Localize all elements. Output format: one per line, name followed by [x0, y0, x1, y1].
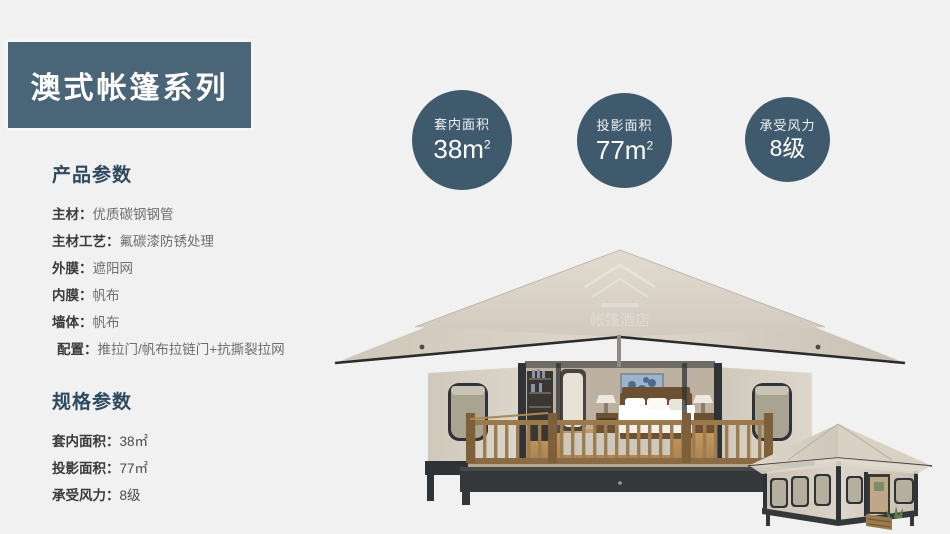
spec-value: 帆布	[93, 288, 120, 303]
spec-label: 配置：	[57, 342, 98, 357]
spec-value: 帆布	[93, 315, 120, 330]
spec-label: 外膜：	[52, 261, 93, 276]
spec-params-heading: 规格参数	[52, 387, 352, 414]
stat-badge-wind-resistance: 承受风力 8级	[745, 97, 830, 182]
product-params-heading: 产品参数	[52, 160, 352, 187]
spec-label: 投影面积：	[52, 461, 120, 476]
spec-row: 墙体：帆布	[52, 309, 352, 336]
stat-badge-value: 77m2	[596, 137, 653, 163]
spec-row: 投影面积：77㎡	[52, 455, 352, 482]
spec-params-section: 规格参数 套内面积：38㎡ 投影面积：77㎡ 承受风力：8级	[52, 387, 352, 509]
secondary-tent-illustration	[742, 420, 947, 534]
product-params-section: 产品参数 主材：优质碳钢钢管 主材工艺：氟碳漆防锈处理 外膜：遮阳网 内膜：帆布…	[52, 160, 352, 363]
stat-badge-label: 投影面积	[596, 119, 652, 132]
spec-value: 8级	[120, 488, 141, 503]
spec-row: 配置：推拉门/帆布拉链门+抗撕裂拉网	[52, 336, 352, 363]
spec-row: 主材：优质碳钢钢管	[52, 201, 352, 228]
watermark-text: 帐篷酒店	[590, 311, 650, 329]
page-title: 澳式帐篷系列	[31, 63, 229, 107]
stat-badge-interior-area: 套内面积 38m2	[412, 90, 512, 190]
spec-value: 38㎡	[120, 434, 149, 449]
specs-column: 产品参数 主材：优质碳钢钢管 主材工艺：氟碳漆防锈处理 外膜：遮阳网 内膜：帆布…	[52, 160, 352, 509]
page-title-banner: 澳式帐篷系列	[8, 42, 251, 128]
spec-value: 遮阳网	[93, 261, 134, 276]
spec-row: 内膜：帆布	[52, 282, 352, 309]
stat-badge-label: 承受风力	[759, 119, 815, 132]
tent-roof	[335, 250, 905, 367]
spec-label: 承受风力：	[52, 488, 120, 503]
spec-value: 优质碳钢钢管	[93, 207, 174, 222]
spec-label: 主材工艺：	[52, 234, 120, 249]
spec-row: 承受风力：8级	[52, 482, 352, 509]
window-group-left	[770, 474, 831, 508]
spec-row: 套内面积：38㎡	[52, 428, 352, 455]
spec-label: 内膜：	[52, 288, 93, 303]
product-spec-page: 澳式帐篷系列 产品参数 主材：优质碳钢钢管 主材工艺：氟碳漆防锈处理 外膜：遮阳…	[0, 0, 950, 534]
spec-row: 主材工艺：氟碳漆防锈处理	[52, 228, 352, 255]
spec-value: 氟碳漆防锈处理	[120, 234, 215, 249]
stat-badge-value: 8级	[770, 137, 806, 160]
stat-badge-value: 38m2	[433, 136, 490, 162]
stat-badge-projected-area: 投影面积 77m2	[577, 93, 672, 188]
spec-label: 墙体：	[52, 315, 93, 330]
spec-label: 主材：	[52, 207, 93, 222]
stat-badge-label: 套内面积	[434, 118, 490, 131]
spec-label: 套内面积：	[52, 434, 120, 449]
spec-row: 外膜：遮阳网	[52, 255, 352, 282]
spec-value: 77㎡	[120, 461, 149, 476]
spec-value: 推拉门/帆布拉链门+抗撕裂拉网	[98, 342, 285, 357]
